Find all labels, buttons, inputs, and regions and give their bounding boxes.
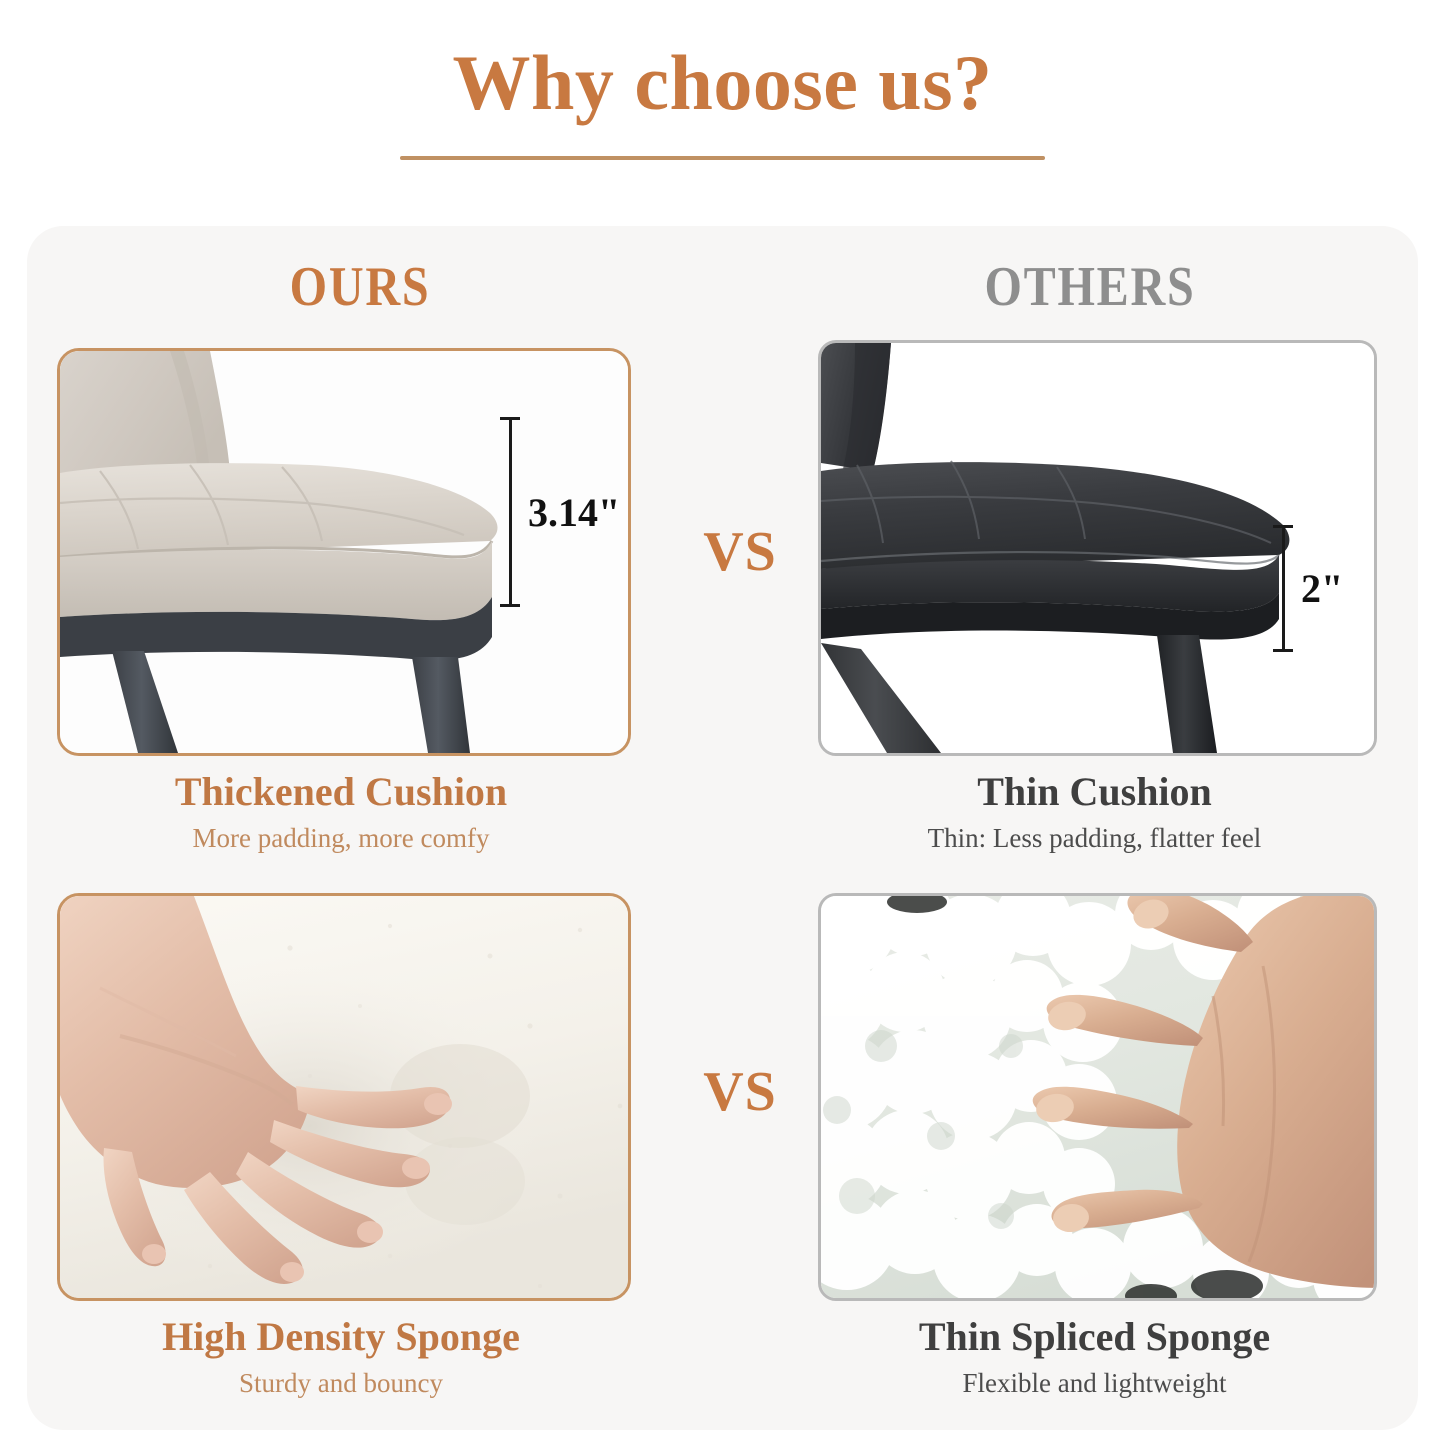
dimension-annotation-others-cushion: 2" — [1273, 525, 1343, 652]
caption-sub: Sturdy and bouncy — [57, 1366, 625, 1401]
caption-sub: Flexible and lightweight — [818, 1366, 1371, 1401]
dimension-bar-icon — [1273, 525, 1293, 652]
dimension-annotation-ours-cushion: 3.14" — [500, 417, 620, 607]
card-others-sponge[interactable] — [818, 893, 1377, 1301]
card-ours-sponge[interactable] — [57, 893, 631, 1301]
page-title: Why choose us? — [0, 0, 1445, 124]
caption-headline: Thin Spliced Sponge — [818, 1313, 1371, 1360]
title-underline-rule — [400, 156, 1045, 160]
card-others-cushion[interactable]: 2" — [818, 340, 1377, 756]
caption-sub: More padding, more comfy — [57, 821, 625, 856]
caption-headline: Thin Cushion — [818, 768, 1371, 815]
header-block: Why choose us? — [0, 0, 1445, 200]
caption-headline: Thickened Cushion — [57, 768, 625, 815]
caption-headline: High Density Sponge — [57, 1313, 625, 1360]
dimension-value-others: 2" — [1301, 565, 1343, 612]
card-ours-cushion[interactable]: 3.14" — [57, 348, 631, 756]
hand-pressing-white-high-density-foam-image — [60, 896, 628, 1298]
hand-in-loose-white-fiberfill-image — [821, 896, 1374, 1298]
caption-ours-sponge: High Density Sponge Sturdy and bouncy — [57, 1313, 625, 1401]
caption-others-sponge: Thin Spliced Sponge Flexible and lightwe… — [818, 1313, 1371, 1401]
dimension-value-ours: 3.14" — [528, 489, 620, 536]
vs-divider-top: VS — [650, 520, 830, 584]
caption-ours-cushion: Thickened Cushion More padding, more com… — [57, 768, 625, 856]
caption-sub: Thin: Less padding, flatter feel — [818, 821, 1371, 856]
caption-others-cushion: Thin Cushion Thin: Less padding, flatter… — [818, 768, 1371, 856]
column-header-ours: OURS — [179, 255, 540, 319]
vs-divider-bottom: VS — [650, 1060, 830, 1124]
column-header-others: OTHERS — [909, 255, 1270, 319]
dimension-bar-icon — [500, 417, 520, 607]
